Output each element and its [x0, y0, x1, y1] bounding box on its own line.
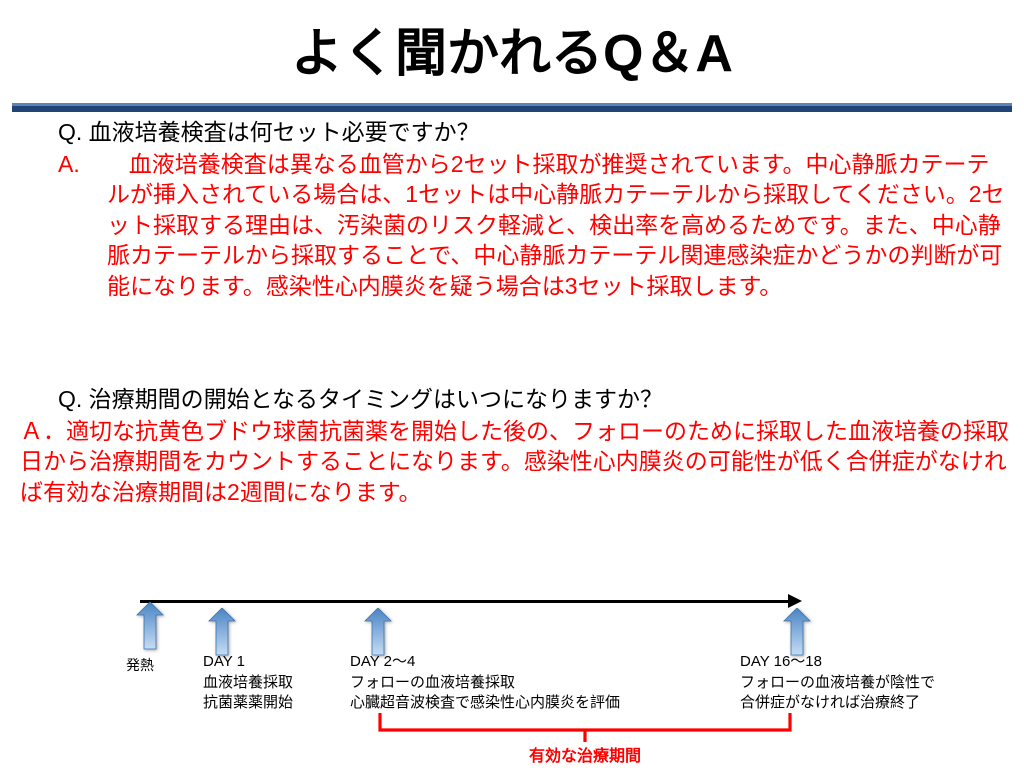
timeline-label-day2-4-line-1: DAY 2〜4 — [350, 652, 620, 673]
timeline-marker-day16-18-arrow-icon — [783, 608, 811, 656]
timeline-marker-day1-arrow-icon — [208, 608, 236, 656]
page-title: よく聞かれるQ＆A — [0, 26, 1024, 83]
timeline-label-day1: DAY 1 血液培養採取 抗菌薬薬開始 — [203, 652, 293, 714]
timeline-axis-line — [140, 600, 793, 603]
timeline-label-day1-line-1: DAY 1 — [203, 652, 293, 673]
timeline-label-day2-4-line-2: フォローの血液培養採取 — [350, 673, 620, 694]
answer-1: A.血液培養検査は異なる血管から2セット採取が推奨されています。中心静脈カテーテ… — [58, 149, 1008, 302]
question-2: Q. 治療期間の開始となるタイミングはいつになりますか？ — [58, 384, 1020, 415]
answer-1-text: 血液培養検査は異なる血管から2セット採取が推奨されています。中心静脈カテーテルが… — [107, 151, 1005, 299]
timeline-label-day16-18-line-1: DAY 16〜18 — [740, 652, 935, 673]
timeline-label-fever-line-1: 発熱 — [126, 656, 154, 675]
timeline-marker-fever-arrow-icon — [136, 602, 164, 650]
title-divider — [12, 103, 1012, 112]
answer-1-label: A. — [58, 151, 80, 177]
qa-block-1: Q. 血液培養検査は何セット必要ですか？ A.血液培養検査は異なる血管から2セッ… — [58, 117, 1008, 301]
effective-treatment-label: 有効な治療期間 — [370, 742, 800, 766]
timeline-marker-day2-4-arrow-icon — [364, 608, 392, 656]
timeline-label-fever: 発熱 — [126, 656, 154, 675]
timeline-label-day1-line-3: 抗菌薬薬開始 — [203, 693, 293, 714]
timeline-label-day1-line-2: 血液培養採取 — [203, 673, 293, 694]
timeline-axis-arrowhead-icon — [788, 594, 802, 608]
timeline-label-day16-18: DAY 16〜18 フォローの血液培養が陰性で 合併症がなければ治療終了 — [740, 652, 935, 714]
divider-band-dark — [12, 106, 1012, 112]
answer-2: Ａ．適切な抗黄色ブドウ球菌抗菌薬を開始した後の、フォローのために採取した血液培養… — [20, 416, 1020, 508]
qa-block-2: Q. 治療期間の開始となるタイミングはいつになりますか？ Ａ．適切な抗黄色ブドウ… — [58, 384, 1020, 507]
timeline-label-day16-18-line-2: フォローの血液培養が陰性で — [740, 673, 935, 694]
timeline-label-day2-4: DAY 2〜4 フォローの血液培養採取 心臓超音波検査で感染性心内膜炎を評価 — [350, 652, 620, 714]
question-1: Q. 血液培養検査は何セット必要ですか？ — [58, 117, 1008, 148]
